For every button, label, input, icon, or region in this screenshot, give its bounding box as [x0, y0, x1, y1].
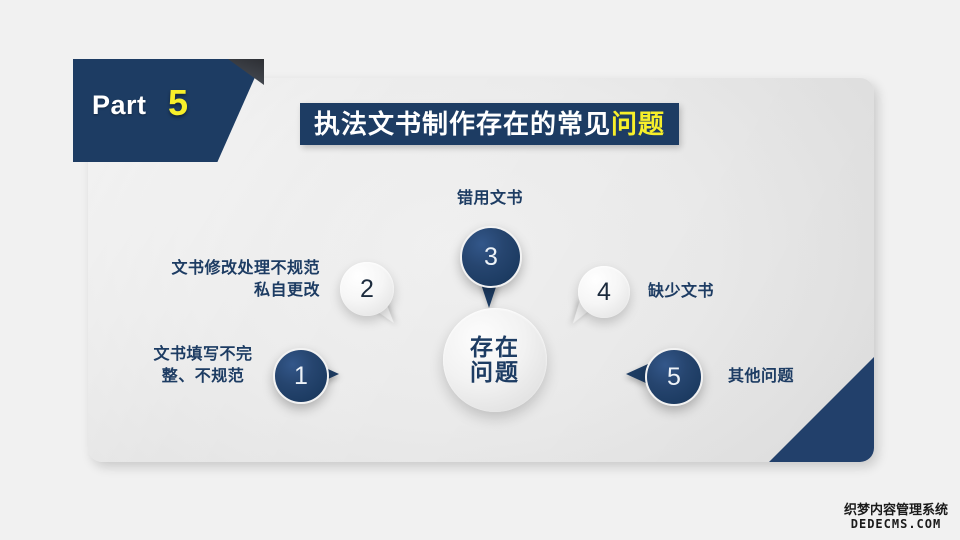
part-number: 5 [168, 82, 188, 124]
bubble-1[interactable]: 1 [273, 348, 329, 404]
bubble-2[interactable]: 2 [340, 262, 394, 316]
bubble-5-number: 5 [667, 365, 681, 390]
bubble-3-number: 3 [484, 245, 498, 270]
bubble-2-label: 文书修改处理不规范 私自更改 [150, 258, 320, 301]
page-title: 执法文书制作存在的常见问题 [314, 111, 665, 137]
bubble-3-label: 错用文书 [430, 188, 550, 210]
bubble-4[interactable]: 4 [578, 266, 630, 318]
bubble-4-label: 缺少文书 [648, 281, 714, 303]
bubble-1-number: 1 [294, 364, 308, 389]
bubble-5-label: 其他问题 [728, 366, 794, 388]
bubble-5[interactable]: 5 [645, 348, 703, 406]
bubble-2-number: 2 [360, 277, 374, 302]
watermark-en: DEDECMS.COM [844, 518, 948, 532]
bubble-4-number: 4 [597, 280, 611, 305]
center-line-1: 存在 [470, 335, 520, 360]
slide-title-box: 执法文书制作存在的常见问题 [300, 103, 679, 145]
center-line-2: 问题 [470, 360, 520, 385]
watermark: 织梦内容管理系统 DEDECMS.COM [844, 503, 948, 532]
part-label: Part [92, 90, 147, 121]
title-prefix: 执法文书制作存在的常见 [314, 109, 611, 139]
title-highlight: 问题 [611, 109, 665, 139]
bubble-3[interactable]: 3 [460, 226, 522, 288]
bubble-1-label: 文书填写不完 整、不规范 [138, 344, 268, 387]
center-circle: 存在 问题 [443, 308, 547, 412]
watermark-cn: 织梦内容管理系统 [844, 503, 948, 518]
